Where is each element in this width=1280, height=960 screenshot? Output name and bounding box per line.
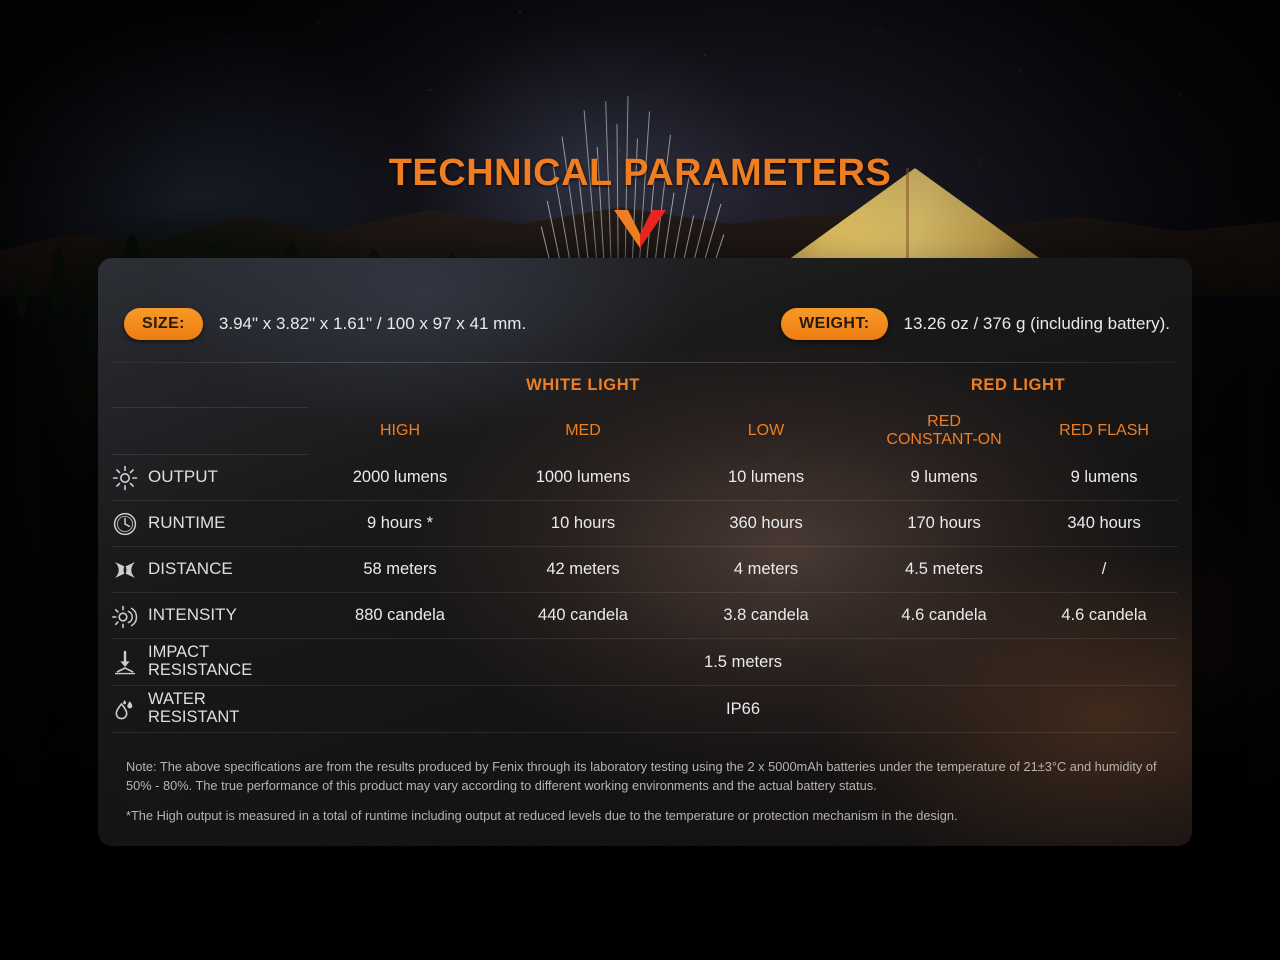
group-header-white-light: WHITE LIGHT bbox=[308, 363, 858, 408]
cell-output-red-flash: 9 lumens bbox=[1030, 455, 1178, 501]
cell-output-low: 10 lumens bbox=[674, 455, 858, 501]
note-main: Note: The above specifications are from … bbox=[126, 758, 1162, 795]
table-row: IMPACT RESISTANCE 1.5 meters bbox=[112, 639, 1178, 686]
cell-runtime-med: 10 hours bbox=[492, 501, 674, 547]
cell-output-med: 1000 lumens bbox=[492, 455, 674, 501]
table-mode-header-row: HIGH MED LOW RED CONSTANT-ON RED FLASH bbox=[112, 408, 1178, 455]
cell-distance-red-constant: 4.5 meters bbox=[858, 547, 1030, 593]
spec-card: SIZE: 3.94" x 3.82" x 1.61" / 100 x 97 x… bbox=[98, 258, 1192, 846]
cell-intensity-low: 3.8 candela bbox=[674, 593, 858, 639]
beam-distance-icon bbox=[112, 557, 138, 583]
specifications-table: WHITE LIGHT RED LIGHT HIGH MED LOW RED C… bbox=[112, 363, 1178, 733]
mode-header-low: LOW bbox=[674, 408, 858, 455]
water-drop-icon bbox=[112, 696, 138, 722]
mode-header-high: HIGH bbox=[308, 408, 492, 455]
table-row: RUNTIME 9 hours * 10 hours 360 hours 170… bbox=[112, 501, 1178, 547]
clock-icon bbox=[112, 511, 138, 537]
cell-runtime-red-constant: 170 hours bbox=[858, 501, 1030, 547]
row-label-water-resistant: WATER RESISTANT bbox=[112, 686, 308, 733]
note-footnote: *The High output is measured in a total … bbox=[126, 807, 1162, 826]
row-label-intensity: INTENSITY bbox=[112, 593, 308, 639]
group-header-empty bbox=[112, 363, 308, 408]
mode-header-empty bbox=[112, 408, 308, 455]
mode-header-red-constant-on: RED CONSTANT-ON bbox=[858, 408, 1030, 455]
size-label-badge: SIZE: bbox=[124, 308, 203, 340]
cell-runtime-low: 360 hours bbox=[674, 501, 858, 547]
cell-intensity-high: 880 candela bbox=[308, 593, 492, 639]
cell-intensity-red-constant: 4.6 candela bbox=[858, 593, 1030, 639]
row-label-output: OUTPUT bbox=[112, 455, 308, 501]
cell-intensity-med: 440 candela bbox=[492, 593, 674, 639]
sun-icon bbox=[112, 465, 138, 491]
table-row: INTENSITY 880 candela 440 candela 3.8 ca… bbox=[112, 593, 1178, 639]
row-label-text: WATER RESISTANT bbox=[148, 691, 239, 727]
table-group-header-row: WHITE LIGHT RED LIGHT bbox=[112, 363, 1178, 408]
weight-value: 13.26 oz / 376 g (including battery). bbox=[904, 314, 1171, 334]
row-label-distance: DISTANCE bbox=[112, 547, 308, 593]
impact-label-line1: IMPACT bbox=[148, 643, 209, 661]
notes-block: Note: The above specifications are from … bbox=[126, 758, 1162, 826]
mode-header-red-flash: RED FLASH bbox=[1030, 408, 1178, 455]
mode-header-med: MED bbox=[492, 408, 674, 455]
cell-runtime-high: 9 hours * bbox=[308, 501, 492, 547]
row-label-text: OUTPUT bbox=[148, 468, 218, 486]
cell-distance-high: 58 meters bbox=[308, 547, 492, 593]
chevron-down-icon bbox=[614, 208, 666, 248]
group-header-red-light: RED LIGHT bbox=[858, 363, 1178, 408]
cell-runtime-red-flash: 340 hours bbox=[1030, 501, 1178, 547]
mode-red-line2: CONSTANT-ON bbox=[886, 431, 1001, 448]
row-label-runtime: RUNTIME bbox=[112, 501, 308, 547]
cell-distance-red-flash: / bbox=[1030, 547, 1178, 593]
cell-distance-med: 42 meters bbox=[492, 547, 674, 593]
page-title: TECHNICAL PARAMETERS bbox=[0, 152, 1280, 195]
weight-label-badge: WEIGHT: bbox=[781, 308, 887, 340]
cell-water-resistant-value: IP66 bbox=[308, 686, 1178, 733]
table-row: OUTPUT 2000 lumens 1000 lumens 10 lumens… bbox=[112, 455, 1178, 501]
cell-impact-resistance-value: 1.5 meters bbox=[308, 639, 1178, 686]
row-label-text: RUNTIME bbox=[148, 514, 225, 532]
row-label-text: IMPACT RESISTANCE bbox=[148, 644, 252, 680]
impact-label-line2: RESISTANCE bbox=[148, 661, 252, 679]
row-label-impact-resistance: IMPACT RESISTANCE bbox=[112, 639, 308, 686]
impact-resistance-icon bbox=[112, 649, 138, 675]
cell-output-high: 2000 lumens bbox=[308, 455, 492, 501]
cell-distance-low: 4 meters bbox=[674, 547, 858, 593]
weight-spec: WEIGHT: 13.26 oz / 376 g (including batt… bbox=[781, 308, 1170, 340]
mode-red-line1: RED bbox=[927, 413, 961, 430]
row-label-text: INTENSITY bbox=[148, 606, 237, 624]
cell-intensity-red-flash: 4.6 candela bbox=[1030, 593, 1178, 639]
table-row: WATER RESISTANT IP66 bbox=[112, 686, 1178, 733]
screenshot-root: M Marmot TECHNICAL PARAMETERS SIZE: 3.94… bbox=[0, 0, 1280, 960]
cell-output-red-constant: 9 lumens bbox=[858, 455, 1030, 501]
size-value: 3.94" x 3.82" x 1.61" / 100 x 97 x 41 mm… bbox=[219, 314, 526, 334]
row-label-text: DISTANCE bbox=[148, 560, 233, 578]
table-row: DISTANCE 58 meters 42 meters 4 meters 4.… bbox=[112, 547, 1178, 593]
size-spec: SIZE: 3.94" x 3.82" x 1.61" / 100 x 97 x… bbox=[124, 308, 526, 340]
intensity-icon bbox=[112, 603, 138, 629]
water-label-line2: RESISTANT bbox=[148, 708, 239, 726]
spec-summary-bar: SIZE: 3.94" x 3.82" x 1.61" / 100 x 97 x… bbox=[124, 298, 1170, 350]
water-label-line1: WATER bbox=[148, 690, 206, 708]
